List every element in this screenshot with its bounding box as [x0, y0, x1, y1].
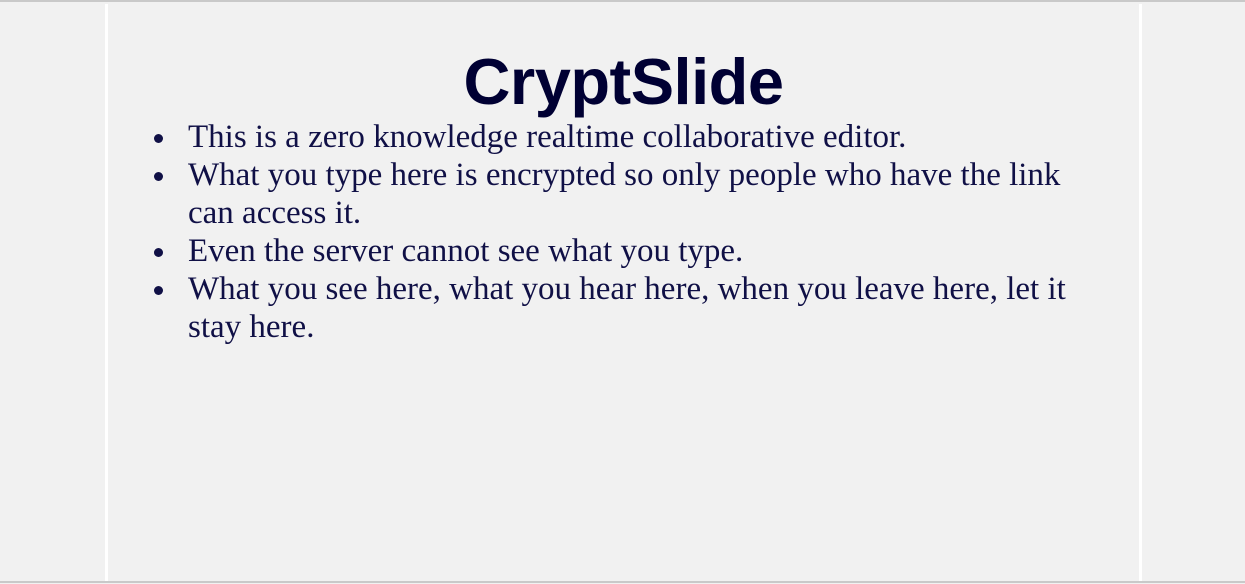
- page-title[interactable]: CryptSlide: [108, 46, 1139, 118]
- list-item[interactable]: What you type here is encrypted so only …: [148, 156, 1108, 232]
- list-item[interactable]: This is a zero knowledge realtime collab…: [148, 118, 1108, 156]
- list-item-label: This is a zero knowledge realtime collab…: [188, 118, 1108, 156]
- slide-canvas[interactable]: CryptSlide This is a zero knowledge real…: [105, 4, 1142, 581]
- bottom-divider-rule: [0, 581, 1245, 583]
- bullet-dot-icon: [154, 172, 163, 181]
- slide-body[interactable]: This is a zero knowledge realtime collab…: [148, 118, 1108, 346]
- list-item-label: What you type here is encrypted so only …: [188, 156, 1108, 232]
- bullet-dot-icon: [154, 248, 163, 257]
- bullet-list: This is a zero knowledge realtime collab…: [148, 118, 1108, 346]
- list-item[interactable]: What you see here, what you hear here, w…: [148, 270, 1108, 346]
- bullet-dot-icon: [154, 134, 163, 143]
- presentation-workspace: CryptSlide This is a zero knowledge real…: [0, 2, 1245, 581]
- list-item-label: What you see here, what you hear here, w…: [188, 270, 1108, 346]
- list-item-label: Even the server cannot see what you type…: [188, 232, 1108, 270]
- bullet-dot-icon: [154, 286, 163, 295]
- list-item[interactable]: Even the server cannot see what you type…: [148, 232, 1108, 270]
